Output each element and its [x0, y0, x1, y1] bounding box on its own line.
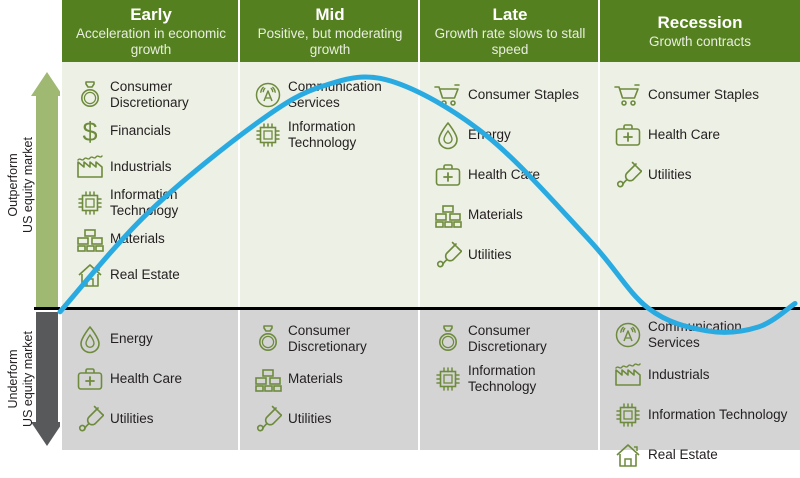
axis-zero-tick	[34, 307, 60, 310]
ring-icon	[248, 322, 288, 356]
bricks-icon	[428, 198, 468, 232]
factory-icon	[70, 150, 110, 184]
column-title: Recession	[657, 13, 742, 33]
chip-icon	[70, 186, 110, 220]
sector-item[interactable]: Information Technology	[428, 362, 596, 396]
sector-label: Utilities	[468, 247, 512, 263]
column-title: Mid	[315, 5, 344, 25]
sector-label: Real Estate	[648, 447, 718, 463]
column-title: Early	[130, 5, 172, 25]
sector-item[interactable]: Materials	[428, 198, 596, 232]
broadcast-tower-icon	[608, 318, 648, 352]
cycle-column-recession: Recession Growth contracts Consumer Stap…	[600, 0, 800, 450]
sector-label: Energy	[110, 331, 153, 347]
sector-label: Industrials	[648, 367, 710, 383]
sector-item[interactable]: Information Technology	[608, 398, 796, 432]
business-cycle-diagram: Outperform US equity market Underform US…	[0, 0, 800, 450]
sector-item[interactable]: Information Technology	[70, 186, 236, 220]
chip-icon	[428, 362, 468, 396]
arrow-up-icon	[36, 72, 58, 308]
sector-item[interactable]: Materials	[248, 362, 416, 396]
mid-underperform-list: Consumer DiscretionaryMaterialsUtilities	[248, 322, 416, 442]
shopping-cart-icon	[428, 78, 468, 112]
svg-text:$: $	[82, 117, 97, 146]
ring-icon	[428, 322, 468, 356]
sector-label: Consumer Discretionary	[288, 323, 416, 355]
house-icon	[70, 258, 110, 292]
early-outperform-list: Consumer Discretionary$FinancialsIndustr…	[70, 78, 236, 294]
column-subtitle: Growth rate slows to stall speed	[420, 26, 600, 57]
sector-item[interactable]: Energy	[70, 322, 236, 356]
sector-label: Information Technology	[468, 363, 596, 395]
performance-axis: Outperform US equity market Underform US…	[0, 0, 62, 450]
sector-label: Consumer Discretionary	[110, 79, 236, 111]
medical-bag-icon	[70, 362, 110, 396]
plug-icon	[70, 402, 110, 436]
late-outperform-list: Consumer StaplesEnergyHealth CareMateria…	[428, 78, 596, 278]
cycle-column-late: Late Growth rate slows to stall speed Co…	[420, 0, 600, 450]
broadcast-tower-icon	[248, 78, 288, 112]
medical-bag-icon	[608, 118, 648, 152]
column-separator	[598, 0, 600, 450]
sector-item[interactable]: Health Care	[70, 362, 236, 396]
sector-item[interactable]: Utilities	[248, 402, 416, 436]
sector-label: Materials	[468, 207, 523, 223]
chip-icon	[248, 118, 288, 152]
bricks-icon	[70, 222, 110, 256]
underperform-axis-label: Underform US equity market	[6, 312, 36, 446]
sector-item[interactable]: Real Estate	[70, 258, 236, 292]
column-header-early[interactable]: Early Acceleration in economic growth	[62, 0, 240, 62]
column-separator	[60, 0, 62, 450]
sector-item[interactable]: Communication Services	[608, 318, 796, 352]
sector-label: Information Technology	[288, 119, 416, 151]
sector-label: Health Care	[468, 167, 540, 183]
plug-icon	[248, 402, 288, 436]
column-header-late[interactable]: Late Growth rate slows to stall speed	[420, 0, 600, 62]
sector-item[interactable]: Health Care	[608, 118, 796, 152]
outperform-axis-label: Outperform US equity market	[6, 70, 36, 300]
droplet-icon	[428, 118, 468, 152]
sector-label: Health Care	[648, 127, 720, 143]
sector-label: Financials	[110, 123, 171, 139]
baseline-zero-line	[62, 307, 800, 310]
recession-underperform-list: Communication ServicesIndustrialsInforma…	[608, 318, 796, 478]
chip-icon	[608, 398, 648, 432]
plug-icon	[428, 238, 468, 272]
sector-label: Real Estate	[110, 267, 180, 283]
sector-label: Materials	[288, 371, 343, 387]
sector-label: Consumer Staples	[648, 87, 759, 103]
cycle-column-early: Early Acceleration in economic growth Co…	[62, 0, 240, 450]
sector-label: Utilities	[110, 411, 154, 427]
sector-item[interactable]: Energy	[428, 118, 596, 152]
column-subtitle: Positive, but moderating growth	[240, 26, 420, 57]
sector-item[interactable]: Consumer Staples	[428, 78, 596, 112]
dollar-icon: $	[70, 114, 110, 148]
recession-outperform-list: Consumer StaplesHealth CareUtilities	[608, 78, 796, 198]
mid-outperform-list: Communication ServicesInformation Techno…	[248, 78, 416, 158]
sector-item[interactable]: Communication Services	[248, 78, 416, 112]
sector-item[interactable]: Utilities	[428, 238, 596, 272]
sector-label: Consumer Staples	[468, 87, 579, 103]
column-header-recession[interactable]: Recession Growth contracts	[600, 0, 800, 62]
sector-label: Utilities	[648, 167, 692, 183]
sector-item[interactable]: Information Technology	[248, 118, 416, 152]
factory-icon	[608, 358, 648, 392]
sector-label: Communication Services	[648, 319, 796, 351]
sector-label: Materials	[110, 231, 165, 247]
sector-item[interactable]: Consumer Discretionary	[70, 78, 236, 112]
sector-label: Information Technology	[110, 187, 236, 219]
sector-item[interactable]: Health Care	[428, 158, 596, 192]
cycle-column-mid: Mid Positive, but moderating growth Comm…	[240, 0, 420, 450]
sector-item[interactable]: Industrials	[608, 358, 796, 392]
sector-item[interactable]: Consumer Staples	[608, 78, 796, 112]
column-separator	[418, 0, 420, 450]
sector-label: Health Care	[110, 371, 182, 387]
house-icon	[608, 438, 648, 472]
ring-icon	[70, 78, 110, 112]
column-title: Late	[493, 5, 528, 25]
sector-label: Consumer Discretionary	[468, 323, 596, 355]
sector-label: Information Technology	[648, 407, 787, 423]
sector-label: Energy	[468, 127, 511, 143]
sector-item[interactable]: Consumer Discretionary	[248, 322, 416, 356]
sector-item[interactable]: $Financials	[70, 114, 236, 148]
plug-icon	[608, 158, 648, 192]
late-underperform-list: Consumer DiscretionaryInformation Techno…	[428, 322, 596, 402]
arrow-down-icon	[36, 312, 58, 446]
sector-item[interactable]: Consumer Discretionary	[428, 322, 596, 356]
column-header-mid[interactable]: Mid Positive, but moderating growth	[240, 0, 420, 62]
sector-label: Utilities	[288, 411, 332, 427]
shopping-cart-icon	[608, 78, 648, 112]
sector-item[interactable]: Materials	[70, 222, 236, 256]
column-subtitle: Acceleration in economic growth	[62, 26, 240, 57]
early-underperform-list: EnergyHealth CareUtilities	[70, 322, 236, 442]
sector-item[interactable]: Real Estate	[608, 438, 796, 472]
sector-item[interactable]: Utilities	[70, 402, 236, 436]
sector-label: Communication Services	[288, 79, 416, 111]
sector-item[interactable]: Industrials	[70, 150, 236, 184]
medical-bag-icon	[428, 158, 468, 192]
column-separator	[238, 0, 240, 450]
column-subtitle: Growth contracts	[649, 34, 751, 50]
sector-label: Industrials	[110, 159, 172, 175]
droplet-icon	[70, 322, 110, 356]
sector-item[interactable]: Utilities	[608, 158, 796, 192]
bricks-icon	[248, 362, 288, 396]
